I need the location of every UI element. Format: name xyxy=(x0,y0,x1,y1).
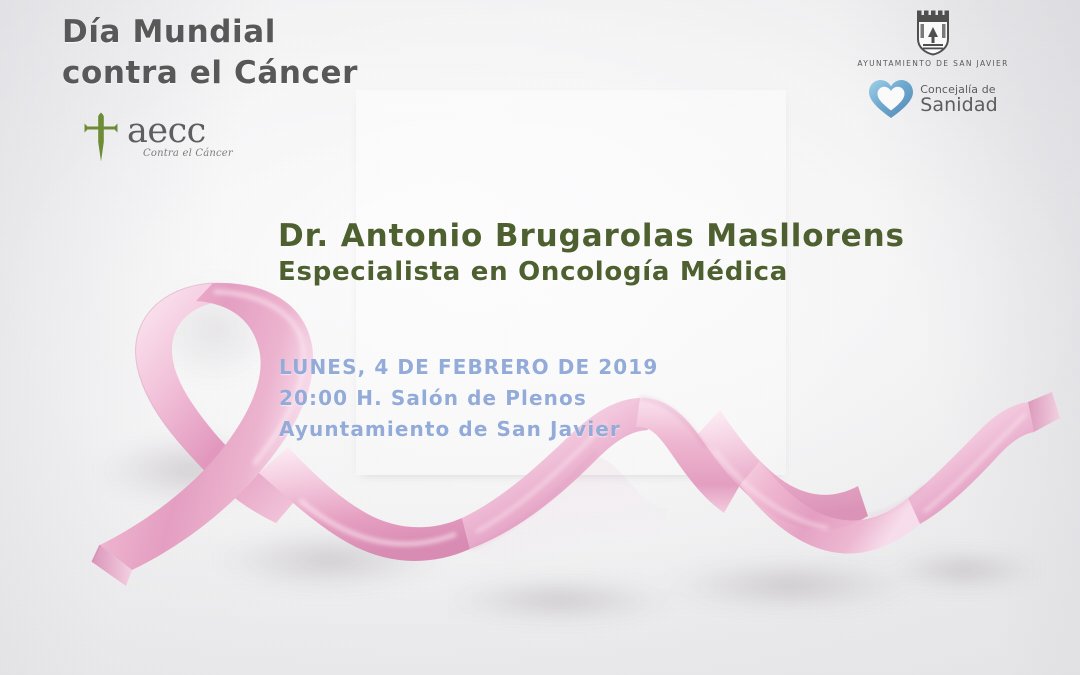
ayuntamiento-caption: AYUNTAMIENTO DE SAN JAVIER xyxy=(857,59,1008,68)
poster-canvas: Día Mundial contra el Cáncer aecc Contra… xyxy=(0,0,1080,675)
concejalia-text: Concejalía de Sanidad xyxy=(920,84,998,115)
aecc-wordmark: aecc Contra el Cáncer xyxy=(127,115,233,160)
san-javier-coat-of-arms-icon xyxy=(911,8,955,56)
page-title-line-1: Día Mundial xyxy=(62,12,358,53)
aecc-tagline: Contra el Cáncer xyxy=(143,149,233,159)
institution-logos: AYUNTAMIENTO DE SAN JAVIER Concejalía de… xyxy=(838,8,1028,119)
event-date: LUNES, 4 DE FEBRERO DE 2019 xyxy=(279,352,658,383)
page-title-line-2: contra el Cáncer xyxy=(62,53,358,94)
event-time-venue: 20:00 H. Salón de Plenos xyxy=(279,383,658,414)
speaker-role: Especialista en Oncología Médica xyxy=(278,257,905,288)
concejalia-line-1: Concejalía de xyxy=(920,84,998,95)
event-details: LUNES, 4 DE FEBRERO DE 2019 20:00 H. Sal… xyxy=(279,352,658,445)
heart-icon xyxy=(868,79,914,119)
aecc-cross-icon xyxy=(84,112,118,162)
aecc-logo: aecc Contra el Cáncer xyxy=(84,112,233,162)
concejalia-line-2: Sanidad xyxy=(920,96,998,115)
event-place: Ayuntamiento de San Javier xyxy=(279,414,658,445)
aecc-wordmark-text: aecc xyxy=(127,115,206,148)
speaker-name: Dr. Antonio Brugarolas Masllorens xyxy=(278,218,905,255)
concejalia-sanidad-logo: Concejalía de Sanidad xyxy=(868,79,998,119)
speaker-block: Dr. Antonio Brugarolas Masllorens Especi… xyxy=(278,218,905,288)
page-title: Día Mundial contra el Cáncer xyxy=(62,12,358,94)
